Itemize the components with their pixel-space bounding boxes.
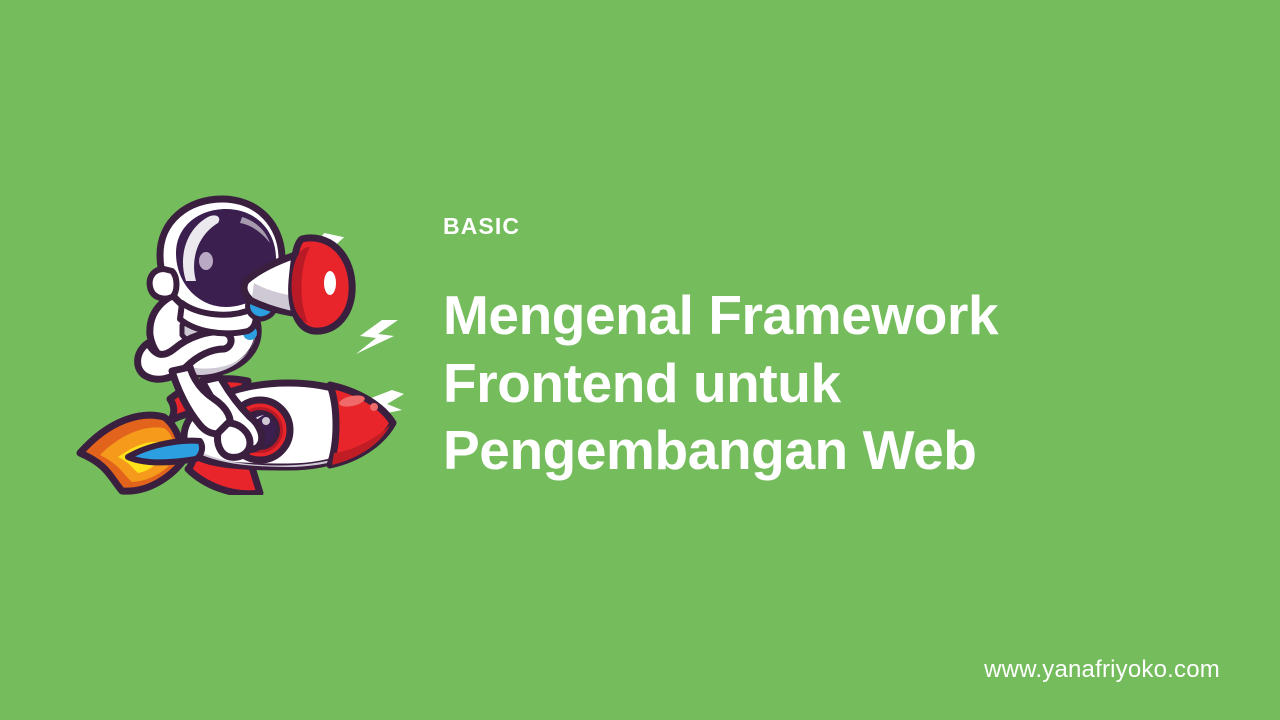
headline-line-1: Mengenal Framework — [443, 282, 1143, 350]
page-title: Mengenal Framework Frontend untuk Pengem… — [443, 282, 1143, 485]
banner-canvas: BASIC Mengenal Framework Frontend untuk … — [0, 0, 1280, 720]
rocket-porthole-dot — [262, 417, 270, 425]
headline-line-3: Pengembangan Web — [443, 417, 1143, 485]
astronaut-boot — [218, 423, 251, 457]
headline-line-2: Frontend untuk — [443, 350, 1143, 418]
astronaut-helmet-ear-piece — [150, 269, 177, 299]
text-block: BASIC Mengenal Framework Frontend untuk … — [443, 215, 1143, 485]
footer-website-url: www.yanafriyoko.com — [984, 658, 1220, 682]
megaphone-bell-highlight — [324, 271, 336, 295]
eyebrow-label: BASIC — [443, 215, 1143, 238]
astronaut-rocket-illustration — [52, 185, 412, 495]
lightning-bolt-middle-icon — [356, 320, 398, 354]
astronaut-visor-dot — [199, 252, 213, 270]
rocket-nose-highlight-small — [370, 403, 378, 411]
